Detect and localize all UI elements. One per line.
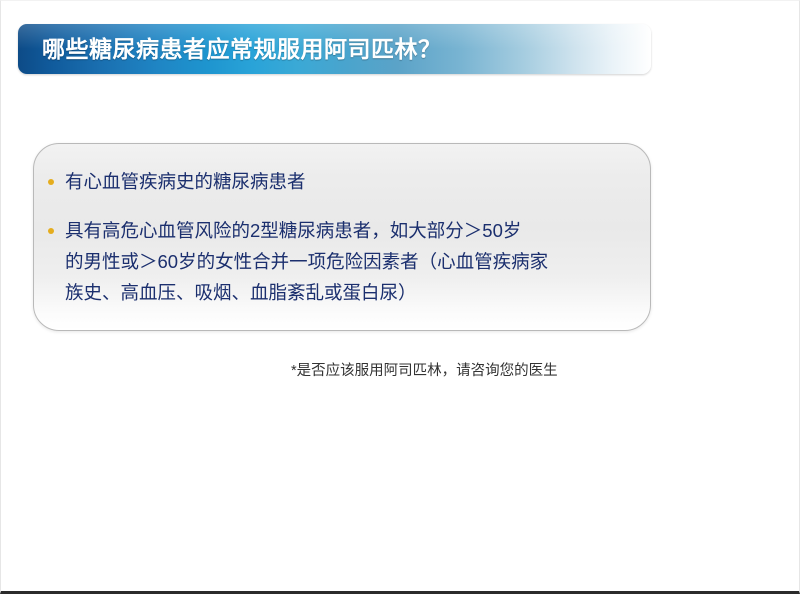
list-item-line: 有心血管疾病史的糖尿病患者 — [65, 166, 632, 197]
slide-title-banner: 哪些糖尿病患者应常规服用阿司匹林？ — [18, 24, 651, 74]
list-item-line: 具有高危心血管风险的2型糖尿病患者，如大部分＞50岁 — [65, 215, 632, 246]
bullet-dot-icon — [48, 179, 54, 185]
list-item: 具有高危心血管风险的2型糖尿病患者，如大部分＞50岁 的男性或＞60岁的女性合并… — [48, 215, 632, 308]
list-item-line: 族史、高血压、吸烟、血脂紊乱或蛋白尿） — [65, 277, 632, 308]
slide-canvas: 哪些糖尿病患者应常规服用阿司匹林？ 有心血管疾病史的糖尿病患者 具有高危心血管风… — [0, 0, 800, 594]
list-item: 有心血管疾病史的糖尿病患者 — [48, 166, 632, 197]
footnote-text: *是否应该服用阿司匹林，请咨询您的医生 — [291, 361, 558, 381]
list-item-text: 具有高危心血管风险的2型糖尿病患者，如大部分＞50岁 的男性或＞60岁的女性合并… — [65, 215, 632, 308]
bullet-list: 有心血管疾病史的糖尿病患者 具有高危心血管风险的2型糖尿病患者，如大部分＞50岁… — [48, 166, 632, 308]
bullet-dot-icon — [48, 228, 54, 234]
list-item-text: 有心血管疾病史的糖尿病患者 — [65, 166, 632, 197]
list-item-line: 的男性或＞60岁的女性合并一项危险因素者（心血管疾病家 — [65, 246, 632, 277]
content-panel: 有心血管疾病史的糖尿病患者 具有高危心血管风险的2型糖尿病患者，如大部分＞50岁… — [33, 143, 651, 331]
page-title: 哪些糖尿病患者应常规服用阿司匹林？ — [42, 24, 442, 74]
